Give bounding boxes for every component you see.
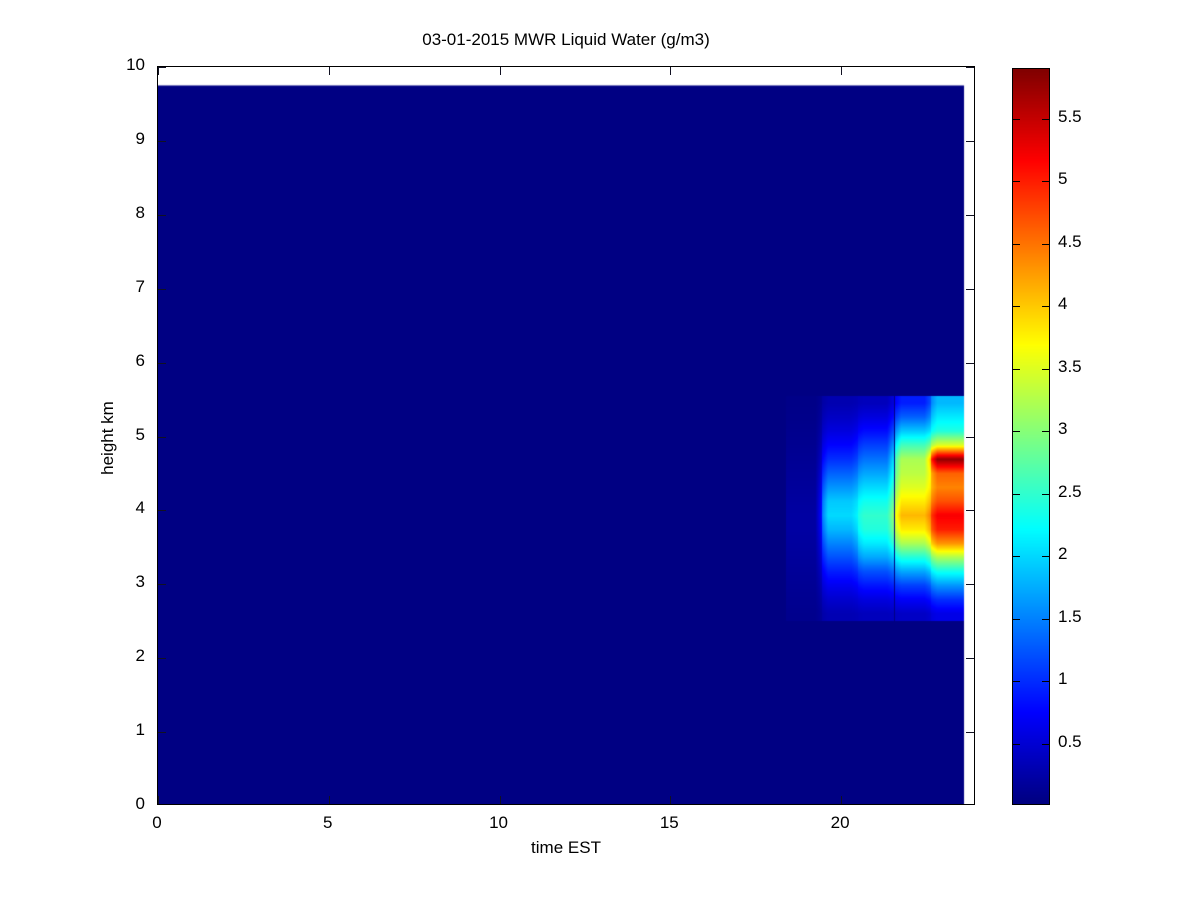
y-tick-label: 2 (99, 646, 145, 666)
x-tick-label: 10 (469, 813, 529, 833)
y-tick-mark (158, 141, 166, 142)
y-tick-mark (966, 215, 974, 216)
colorbar-gradient (1013, 69, 1049, 804)
colorbar-tick-label: 0.5 (1058, 732, 1082, 752)
x-tick-mark (158, 796, 159, 804)
colorbar-tick-label: 2.5 (1058, 482, 1082, 502)
x-tick-mark (841, 796, 842, 804)
colorbar-tick-mark (1042, 369, 1049, 370)
colorbar-tick-mark (1042, 619, 1049, 620)
y-tick-mark (966, 510, 974, 511)
colorbar-tick-mark (1013, 494, 1020, 495)
colorbar-tick-mark (1042, 681, 1049, 682)
y-tick-mark (158, 584, 166, 585)
colorbar-tick-mark (1042, 119, 1049, 120)
x-tick-label: 5 (298, 813, 358, 833)
colorbar-tick-mark (1042, 306, 1049, 307)
y-tick-label: 8 (99, 203, 145, 223)
y-tick-mark (158, 437, 166, 438)
y-tick-mark (158, 67, 166, 68)
y-tick-mark (966, 437, 974, 438)
y-tick-mark (158, 510, 166, 511)
colorbar-tick-label: 4 (1058, 294, 1067, 314)
colorbar-tick-mark (1042, 744, 1049, 745)
x-tick-mark (670, 67, 671, 75)
x-axis-label: time EST (157, 838, 975, 858)
y-tick-mark (158, 289, 166, 290)
colorbar-tick-mark (1042, 431, 1049, 432)
y-tick-label: 3 (99, 572, 145, 592)
colorbar (1012, 68, 1050, 805)
x-tick-mark (500, 67, 501, 75)
colorbar-tick-label: 5 (1058, 169, 1067, 189)
x-tick-label: 15 (639, 813, 699, 833)
colorbar-tick-mark (1042, 556, 1049, 557)
x-tick-mark (670, 796, 671, 804)
y-tick-mark (966, 732, 974, 733)
colorbar-tick-mark (1013, 181, 1020, 182)
colorbar-tick-label: 2 (1058, 544, 1067, 564)
x-tick-mark (500, 796, 501, 804)
page-title: 03-01-2015 MWR Liquid Water (g/m3) (157, 30, 975, 50)
colorbar-tick-mark (1013, 119, 1020, 120)
y-tick-mark (158, 732, 166, 733)
y-tick-mark (966, 658, 974, 659)
colorbar-tick-mark (1042, 244, 1049, 245)
colorbar-tick-label: 3 (1058, 419, 1067, 439)
x-tick-label: 0 (127, 813, 187, 833)
y-tick-label: 7 (99, 277, 145, 297)
colorbar-tick-mark (1013, 619, 1020, 620)
x-tick-mark (841, 67, 842, 75)
y-tick-label: 10 (99, 55, 145, 75)
y-tick-mark (966, 363, 974, 364)
y-tick-mark (966, 67, 974, 68)
colorbar-tick-mark (1042, 181, 1049, 182)
figure-canvas: 03-01-2015 MWR Liquid Water (g/m3) 01234… (0, 0, 1200, 900)
colorbar-tick-label: 1.5 (1058, 607, 1082, 627)
colorbar-tick-label: 3.5 (1058, 357, 1082, 377)
x-tick-mark (158, 67, 159, 75)
colorbar-tick-mark (1013, 431, 1020, 432)
colorbar-tick-label: 1 (1058, 669, 1067, 689)
y-tick-mark (966, 584, 974, 585)
y-tick-mark (966, 141, 974, 142)
colorbar-tick-mark (1013, 244, 1020, 245)
colorbar-tick-mark (1013, 744, 1020, 745)
colorbar-tick-label: 4.5 (1058, 232, 1082, 252)
colorbar-tick-label: 5.5 (1058, 107, 1082, 127)
y-tick-mark (158, 658, 166, 659)
colorbar-tick-mark (1013, 681, 1020, 682)
x-tick-label: 20 (810, 813, 870, 833)
y-tick-label: 9 (99, 129, 145, 149)
y-tick-label: 0 (99, 794, 145, 814)
x-tick-mark (329, 67, 330, 75)
y-tick-mark (966, 289, 974, 290)
colorbar-tick-mark (1042, 494, 1049, 495)
y-axis-label: height km (98, 313, 118, 563)
colorbar-tick-mark (1013, 556, 1020, 557)
heatmap-axes (157, 66, 975, 805)
heatmap-image (158, 67, 975, 805)
y-tick-mark (158, 363, 166, 364)
colorbar-tick-mark (1013, 306, 1020, 307)
colorbar-tick-mark (1013, 369, 1020, 370)
y-tick-label: 1 (99, 720, 145, 740)
x-tick-mark (329, 796, 330, 804)
y-tick-mark (158, 215, 166, 216)
